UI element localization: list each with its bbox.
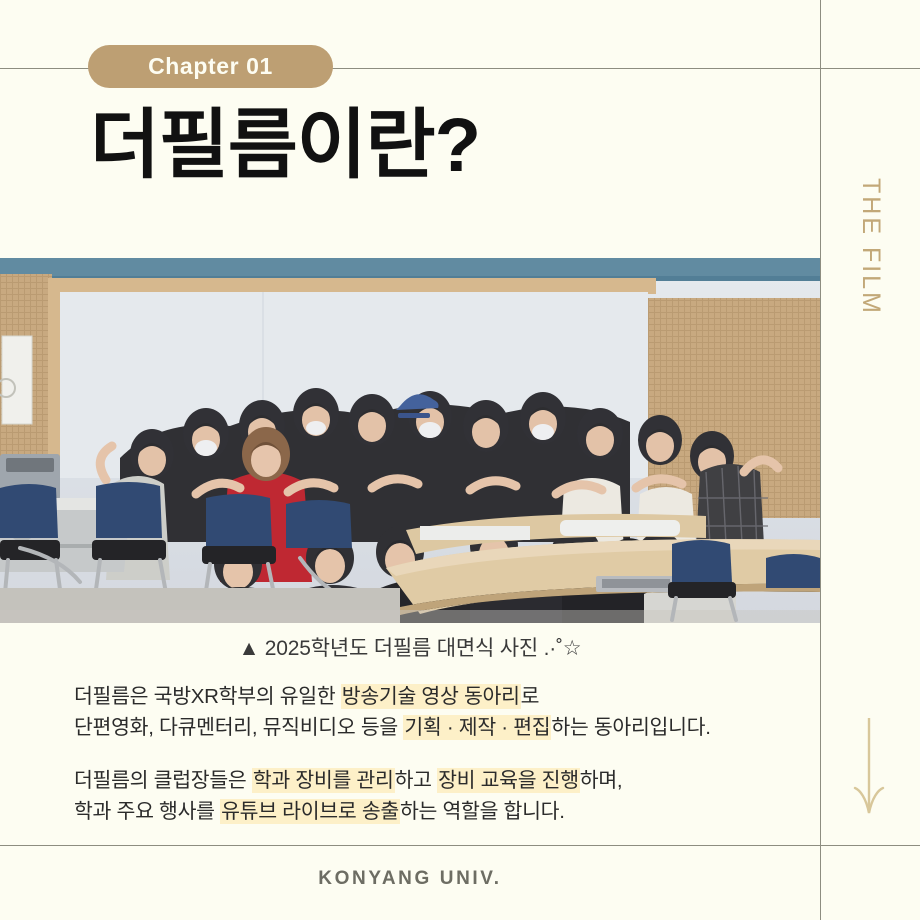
body-paragraph-1: 더필름은 국방XR학부의 유일한 방송기술 영상 동아리로 단편영화, 다큐멘터…: [74, 681, 711, 743]
highlighted-phrase: 학과 장비를 관리: [252, 768, 395, 793]
plain-phrase: 하는 역할을 합니다.: [400, 800, 565, 823]
plain-phrase: 단편영화, 다큐멘터리, 뮤직비디오 등을: [74, 716, 403, 739]
body-paragraph-2: 더필름의 클럽장들은 학과 장비를 관리하고 장비 교육을 진행하며, 학과 주…: [74, 765, 622, 827]
footer-brand: KONYANG UNIV.: [0, 868, 820, 890]
plain-phrase: 더필름의 클럽장들은: [74, 769, 252, 792]
plain-phrase: 하는 동아리입니다.: [551, 716, 710, 739]
body-line: 학과 주요 행사를 유튜브 라이브로 송출하는 역할을 합니다.: [74, 796, 622, 827]
down-arrow-icon: [849, 718, 889, 822]
body-line: 더필름은 국방XR학부의 유일한 방송기술 영상 동아리로: [74, 681, 711, 712]
slide-card: Chapter 01 더필름이란? THE FILM: [0, 0, 920, 920]
chapter-badge-label: Chapter 01: [148, 53, 273, 80]
page-title: 더필름이란?: [90, 108, 480, 184]
highlighted-phrase: 방송기술 영상 동아리: [341, 684, 521, 709]
highlighted-phrase: 장비 교육을 진행: [437, 768, 580, 793]
chapter-badge: Chapter 01: [88, 45, 333, 88]
body-line: 단편영화, 다큐멘터리, 뮤직비디오 등을 기획 · 제작 · 편집하는 동아리…: [74, 712, 711, 743]
group-photo: K: [0, 258, 820, 623]
plain-phrase: 더필름은 국방XR학부의 유일한: [74, 685, 341, 708]
plain-phrase: 하고: [395, 769, 438, 792]
photo-caption: ▲ 2025학년도 더필름 대면식 사진 .·˚☆: [0, 632, 820, 662]
right-margin-line: [820, 0, 821, 920]
plain-phrase: 하며,: [580, 769, 623, 792]
plain-phrase: 학과 주요 행사를: [74, 800, 220, 823]
vertical-side-label: THE FILM: [856, 178, 885, 316]
footer-divider-line: [0, 845, 920, 846]
highlighted-phrase: 기획 · 제작 · 편집: [403, 715, 551, 740]
highlighted-phrase: 유튜브 라이브로 송출: [220, 799, 400, 824]
body-line: 더필름의 클럽장들은 학과 장비를 관리하고 장비 교육을 진행하며,: [74, 765, 622, 796]
plain-phrase: 로: [521, 685, 540, 708]
